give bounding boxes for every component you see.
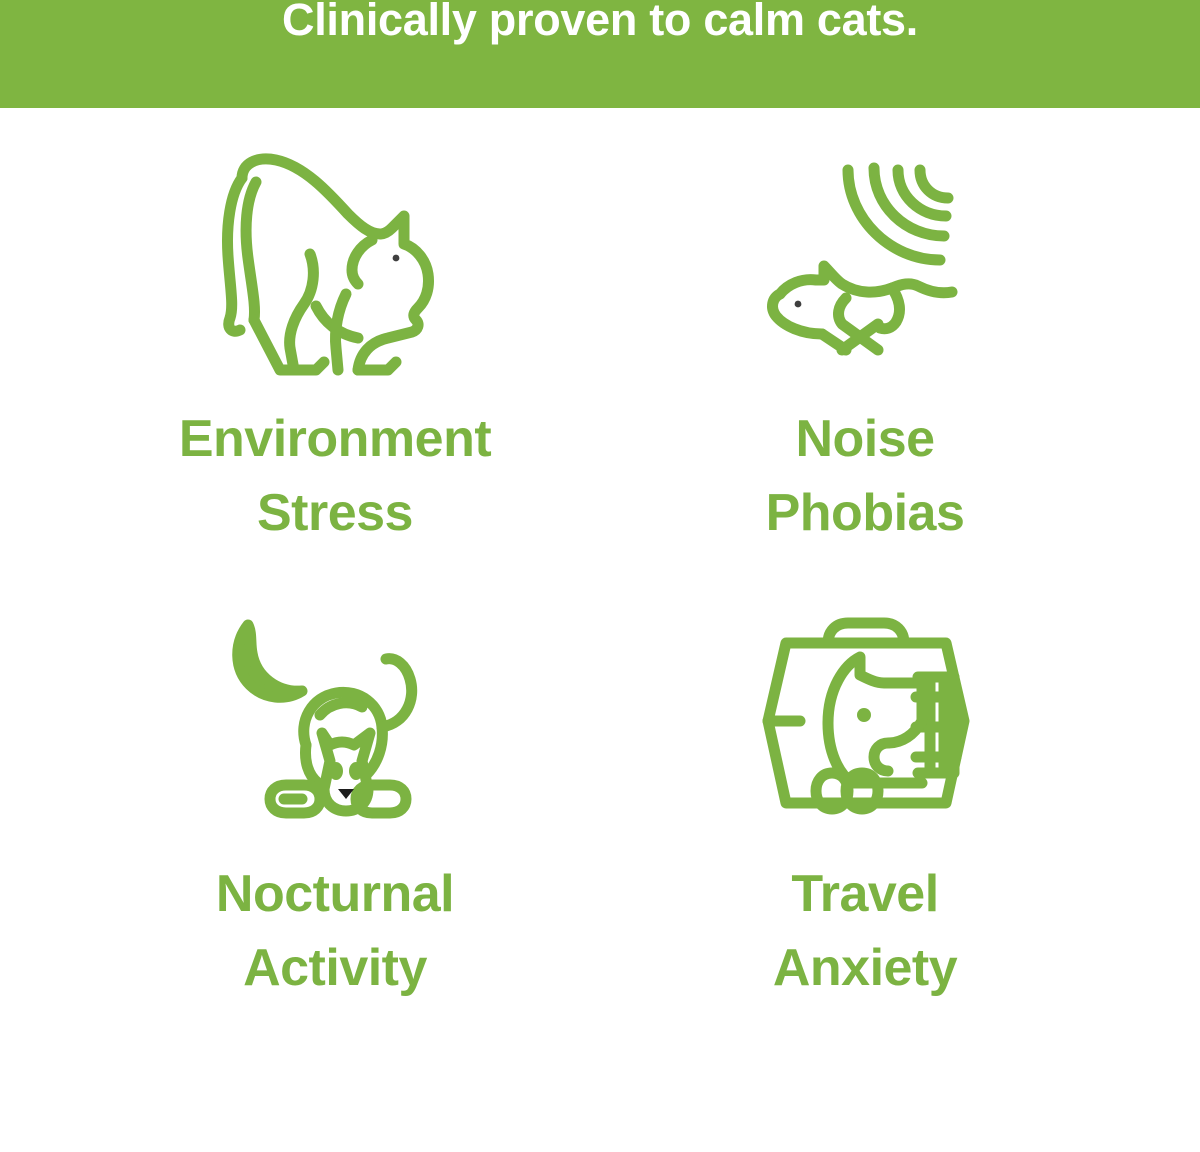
feature-cell-environment-stress: Environment Stress: [70, 108, 600, 575]
feature-cell-nocturnal-activity: Nocturnal Activity: [70, 575, 600, 1042]
feature-label-nocturnal-activity: Nocturnal Activity: [216, 857, 454, 1005]
feature-grid: Environment Stress: [0, 108, 1200, 1152]
crouching-cat-moon-icon: [220, 603, 450, 833]
headline-banner: Clinically proven to calm cats.: [0, 0, 1200, 108]
cat-carrier-icon: [750, 603, 980, 833]
promo-infographic: Clinically proven to calm cats.: [0, 0, 1200, 1152]
feature-label-noise-phobias: Noise Phobias: [766, 402, 965, 550]
feature-cell-travel-anxiety: Travel Anxiety: [600, 575, 1130, 1042]
feature-label-travel-anxiety: Travel Anxiety: [773, 857, 957, 1005]
arched-back-cat-icon: [220, 148, 450, 378]
fleeing-cat-soundwaves-icon: [750, 148, 980, 378]
feature-label-environment-stress: Environment Stress: [179, 402, 491, 550]
headline-text: Clinically proven to calm cats.: [282, 0, 918, 46]
feature-cell-noise-phobias: Noise Phobias: [600, 108, 1130, 575]
